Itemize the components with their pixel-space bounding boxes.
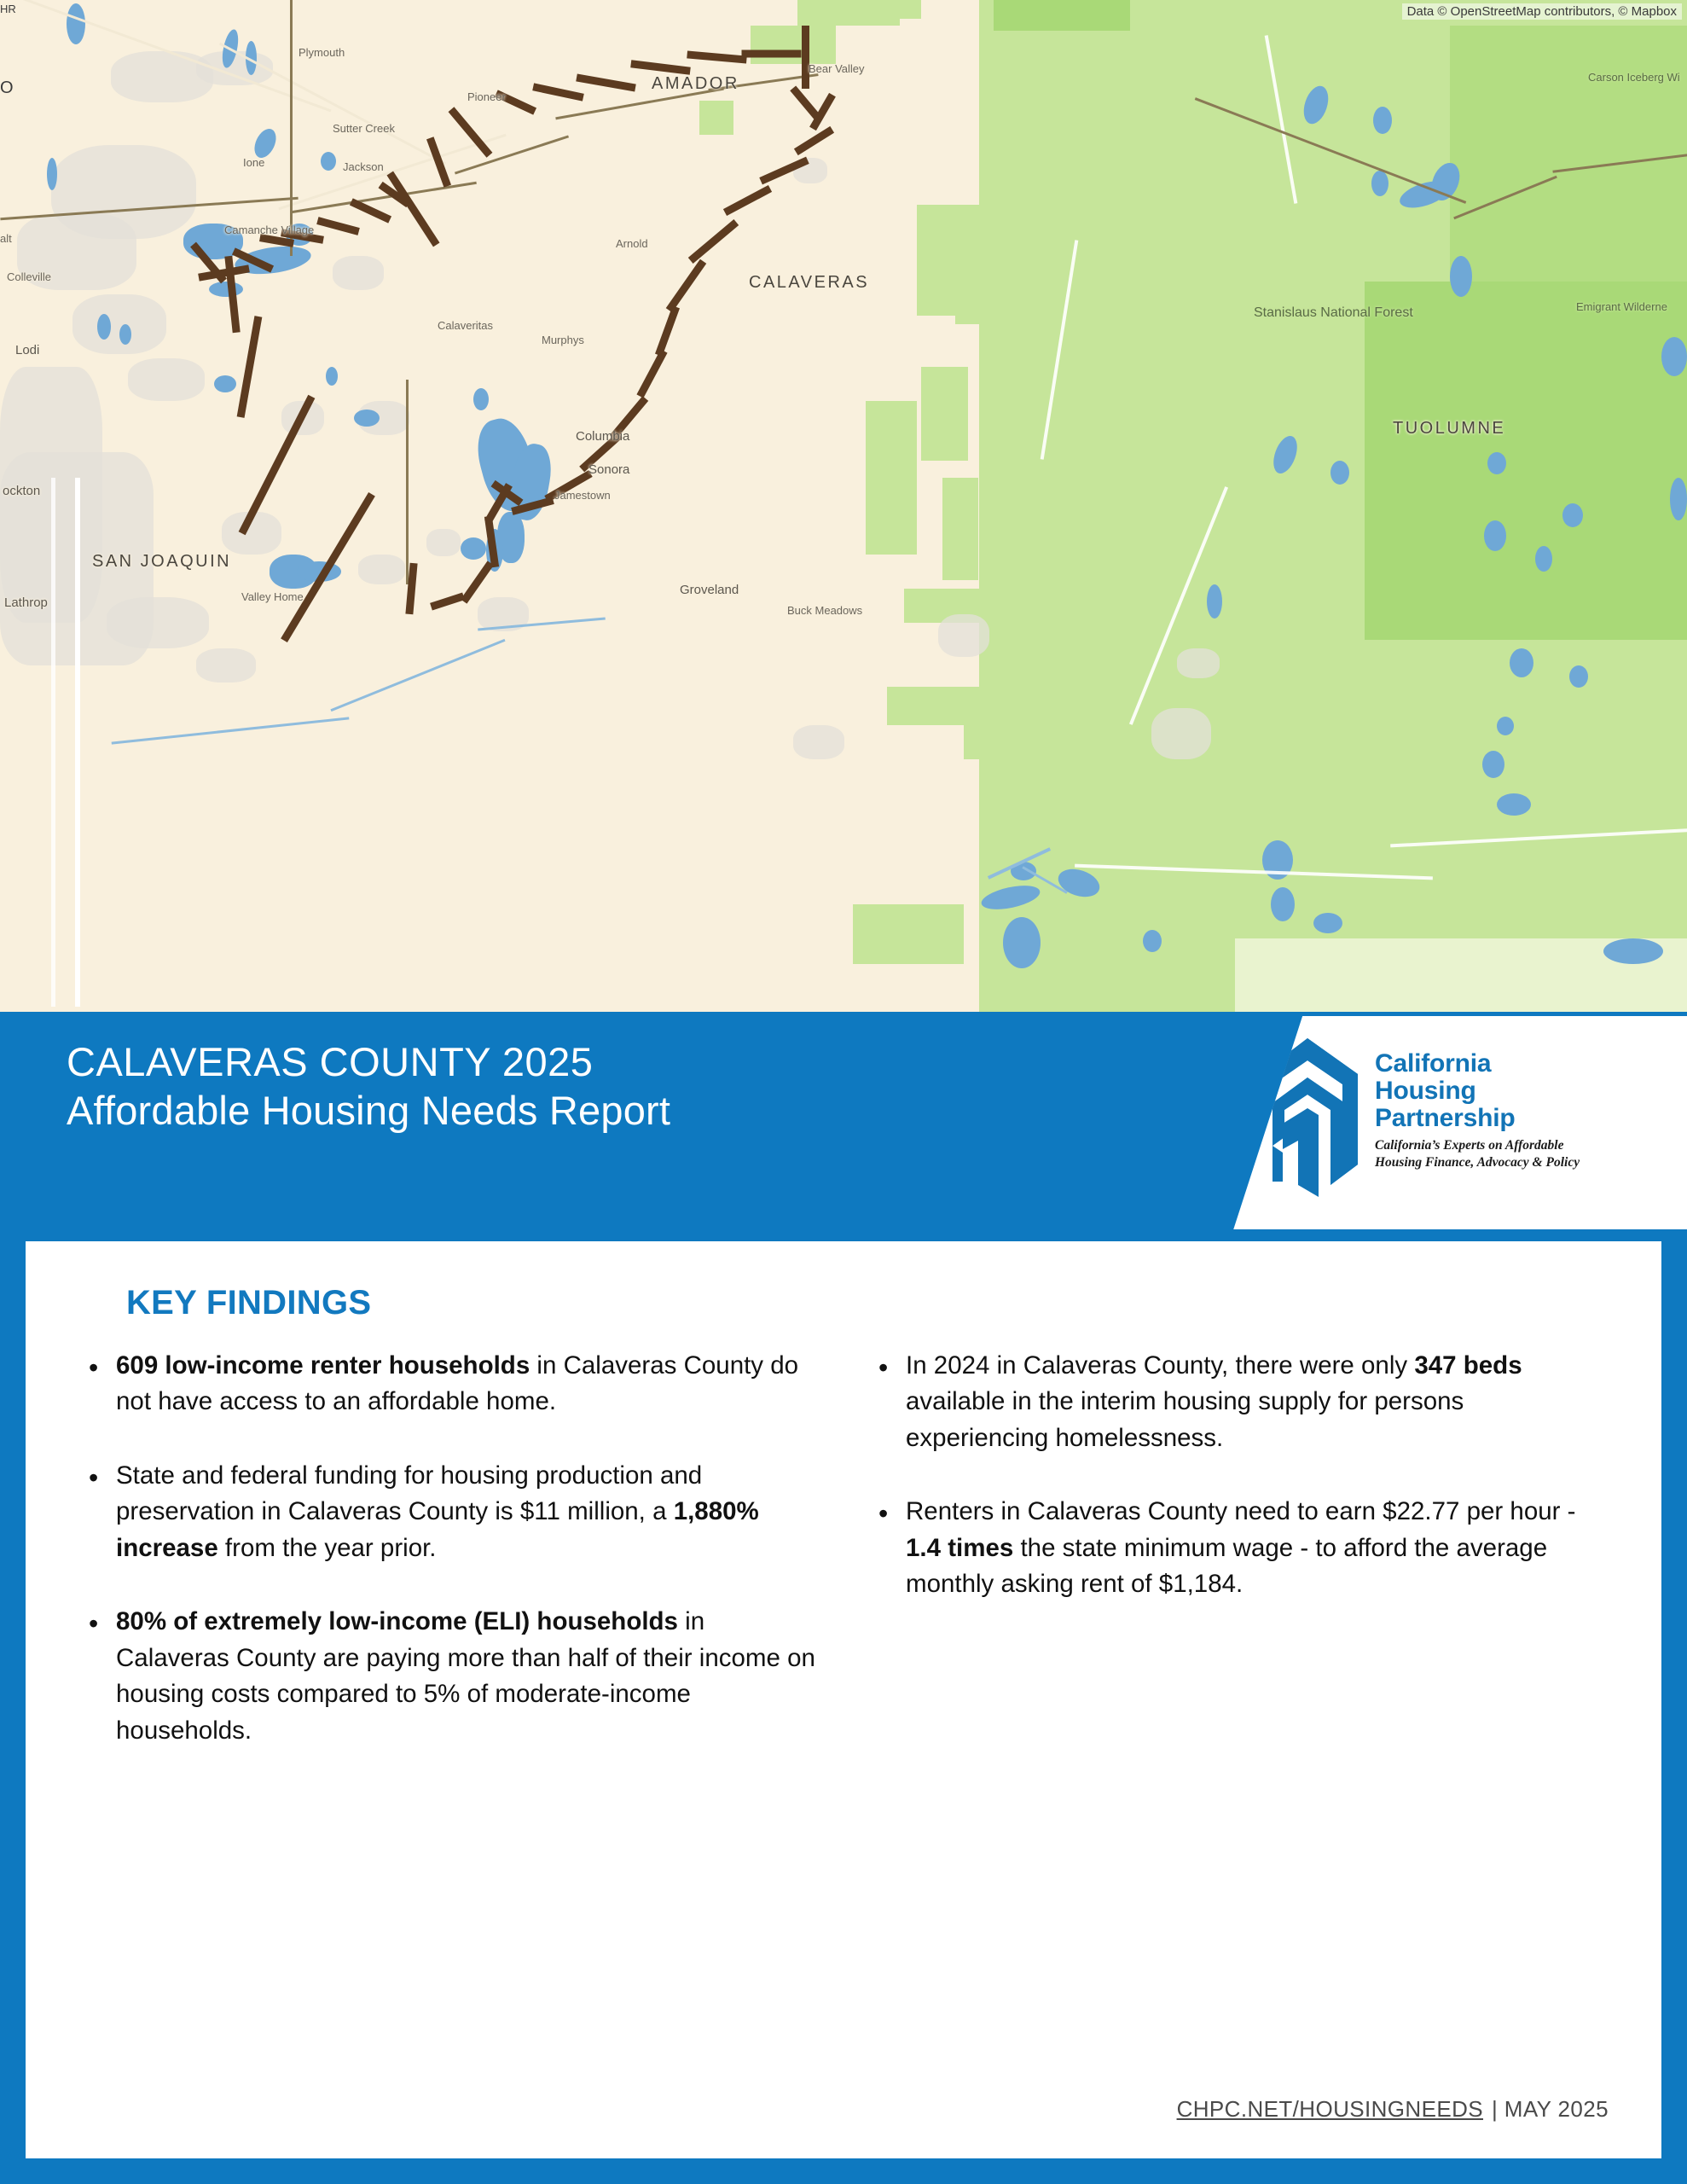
map-water (1330, 461, 1349, 485)
finding-text: In 2024 in Calaveras County, there were … (906, 1348, 1612, 1456)
finding-emphasis: 347 beds (1414, 1351, 1522, 1380)
map-water (1661, 337, 1687, 376)
map-label-town: Plymouth (299, 46, 345, 59)
map-water (1562, 503, 1583, 527)
map-urban-area (107, 597, 209, 648)
bullet-dot-icon: • (77, 1604, 116, 1749)
map-water (1482, 751, 1504, 778)
map-urban-area (426, 529, 461, 556)
map-label-town: Arnold (616, 237, 648, 250)
map-label-town: Sonora (588, 462, 629, 477)
section-title: KEY FINDINGS (126, 1284, 371, 1322)
map-label-town: Lodi (15, 343, 39, 357)
map-label-town: Pioneer (467, 90, 506, 103)
map-urban-area (793, 725, 844, 759)
logo-line-3: Partnership (1375, 1105, 1580, 1132)
map-attribution: Data © OpenStreetMap contributors, © Map… (1402, 3, 1682, 20)
map-label-forest: Stanislaus National Forest (1254, 305, 1413, 321)
chevron-house-logo-icon (1254, 1035, 1361, 1211)
map-water (1313, 913, 1342, 933)
map-label-town: ockton (3, 484, 40, 498)
map-label-wilderness: Carson Iceberg Wi (1588, 71, 1680, 84)
map-border-thin (290, 0, 293, 256)
finding-emphasis: 609 low-income renter households (116, 1351, 530, 1380)
logo-line-1: California (1375, 1050, 1580, 1077)
report-header: CALAVERAS COUNTY 2025 Affordable Housing… (0, 1012, 1687, 1234)
map-water (1207, 584, 1222, 619)
logo-container: California Housing Partnership Californi… (1194, 1016, 1687, 1229)
map-urban-area (938, 614, 989, 657)
finding-emphasis: 80% of extremely low-income (ELI) househ… (116, 1607, 678, 1635)
map-urban-area (128, 358, 205, 401)
map-forest-frag (921, 367, 968, 461)
map-water (1487, 452, 1506, 474)
map-water (321, 152, 336, 171)
map-water (1484, 520, 1506, 551)
finding-plain: from the year prior. (218, 1534, 437, 1562)
map-forest-frag (699, 101, 733, 135)
map-label-town: HR (0, 3, 16, 15)
map-water (119, 324, 131, 345)
finding-text: Renters in Calaveras County need to earn… (906, 1494, 1612, 1602)
county-boundary-seg (742, 50, 802, 58)
map-water (1371, 171, 1388, 196)
map-urban-area (333, 256, 384, 290)
county-boundary-seg (802, 26, 809, 89)
map-label-county: SAN JOAQUIN (92, 552, 231, 572)
map-water (473, 388, 489, 410)
map-water (1003, 917, 1041, 968)
map-water (1373, 107, 1392, 134)
map-water (1670, 478, 1687, 520)
map-urban-area (72, 294, 166, 354)
map-label-town: Camanche Village (224, 224, 314, 236)
logo-tagline-line-2: Housing Finance, Advocacy & Policy (1375, 1154, 1580, 1170)
map-label-town: Sutter Creek (333, 122, 395, 135)
map-water (1450, 256, 1472, 297)
map-label-town: Bear Valley (809, 62, 865, 75)
map-label-town: Jackson (343, 160, 384, 173)
map-forest-frag (870, 0, 921, 19)
map-urban-area (196, 648, 256, 682)
finding-bullet: •In 2024 in Calaveras County, there were… (867, 1348, 1612, 1456)
findings-columns: •609 low-income renter households in Cal… (77, 1348, 1612, 1786)
key-findings-card: KEY FINDINGS •609 low-income renter hous… (26, 1241, 1661, 2158)
map-urban-area (1177, 648, 1220, 678)
map-label-town: Jamestown (554, 489, 611, 502)
map-label-town: Lathrop (4, 595, 48, 610)
finding-bullet: •80% of extremely low-income (ELI) house… (77, 1604, 822, 1749)
page-title: CALAVERAS COUNTY 2025 Affordable Housing… (67, 1037, 670, 1136)
map-water (67, 3, 85, 44)
map-label-town: Buck Meadows (787, 604, 862, 617)
map-label-town: Calaveritas (438, 319, 493, 332)
map-water (214, 375, 236, 392)
finding-bullet: •609 low-income renter households in Cal… (77, 1348, 822, 1420)
map-water (326, 367, 338, 386)
map-water (1603, 938, 1663, 964)
map-forest-frag (870, 508, 908, 555)
logo-tagline-line-1: California’s Experts on Affordable (1375, 1137, 1580, 1153)
bullet-dot-icon: • (77, 1458, 116, 1566)
logo-line-2: Housing (1375, 1077, 1580, 1105)
map-forest-frag (853, 904, 964, 964)
finding-plain: State and federal funding for housing pr… (116, 1461, 702, 1525)
map-label-town: Valley Home (241, 590, 304, 603)
map-label-county: TUOLUMNE (1393, 419, 1505, 439)
bullet-dot-icon: • (867, 1494, 906, 1602)
finding-plain: Renters in Calaveras County need to earn… (906, 1497, 1576, 1525)
map-water (97, 314, 111, 340)
map-label-town: alt (0, 232, 12, 245)
map-forest-deep-3 (994, 0, 1130, 31)
map-road (75, 478, 80, 1007)
map-water (461, 537, 486, 560)
bullet-dot-icon: • (867, 1348, 906, 1456)
map-water (1569, 665, 1588, 688)
map-label-town: Groveland (680, 583, 739, 597)
map-water (1143, 930, 1162, 952)
map-water (209, 282, 243, 297)
title-line-1: CALAVERAS COUNTY 2025 (67, 1037, 670, 1086)
findings-left-column: •609 low-income renter households in Cal… (77, 1348, 822, 1786)
finding-bullet: •Renters in Calaveras County need to ear… (867, 1494, 1612, 1602)
map-border-thin (406, 380, 409, 584)
map-label-county: AMADOR (652, 74, 739, 94)
finding-text: State and federal funding for housing pr… (116, 1458, 822, 1566)
map-label-wilderness: Emigrant Wilderne (1576, 300, 1667, 313)
map-water (1535, 546, 1552, 572)
map-water (1510, 648, 1533, 677)
map-water (1497, 793, 1531, 816)
finding-bullet: •State and federal funding for housing p… (77, 1458, 822, 1566)
map-water (354, 409, 380, 427)
logo-tagline: California’s Experts on Affordable Housi… (1375, 1137, 1580, 1170)
map-forest-frag (917, 205, 989, 316)
finding-emphasis: 1.4 times (906, 1534, 1013, 1562)
map-water (47, 158, 57, 190)
map-label-town: Colleville (7, 270, 51, 283)
map-forest-frag (964, 725, 1058, 759)
map-label-town: Columbia (576, 429, 629, 444)
map-forest-frag (751, 26, 836, 64)
map-water (1271, 887, 1295, 921)
map-forest-deep-2 (1365, 282, 1687, 640)
report-page: AMADOR CALAVERAS TUOLUMNE SAN JOAQUIN St… (0, 0, 1687, 2184)
map-urban-area (358, 555, 405, 584)
map-forest-frag (887, 687, 989, 725)
map-water (1497, 717, 1514, 735)
map-label-town: O (0, 78, 15, 98)
findings-right-column: •In 2024 in Calaveras County, there were… (867, 1348, 1612, 1786)
footer-date: | MAY 2025 (1483, 2096, 1609, 2122)
finding-plain: In 2024 in Calaveras County, there were … (906, 1351, 1414, 1380)
footer: CHPC.NET/HOUSINGNEEDS| MAY 2025 (1177, 2096, 1609, 2123)
map-road (51, 478, 55, 1007)
finding-text: 80% of extremely low-income (ELI) househ… (116, 1604, 822, 1749)
map-label-county: CALAVERAS (749, 273, 869, 293)
finding-text: 609 low-income renter households in Cala… (116, 1348, 822, 1420)
map-label-town: Murphys (542, 334, 584, 346)
bullet-dot-icon: • (77, 1348, 116, 1420)
title-line-2: Affordable Housing Needs Report (67, 1086, 670, 1135)
map-urban-area (1151, 708, 1211, 759)
finding-plain: available in the interim housing supply … (906, 1387, 1464, 1451)
logo-wordmark: California Housing Partnership Californi… (1375, 1035, 1580, 1170)
map-forest-frag (942, 478, 978, 580)
map-label-town: Ione (243, 156, 264, 169)
county-map[interactable]: AMADOR CALAVERAS TUOLUMNE SAN JOAQUIN St… (0, 0, 1687, 1012)
footer-url-link[interactable]: CHPC.NET/HOUSINGNEEDS (1177, 2096, 1483, 2122)
